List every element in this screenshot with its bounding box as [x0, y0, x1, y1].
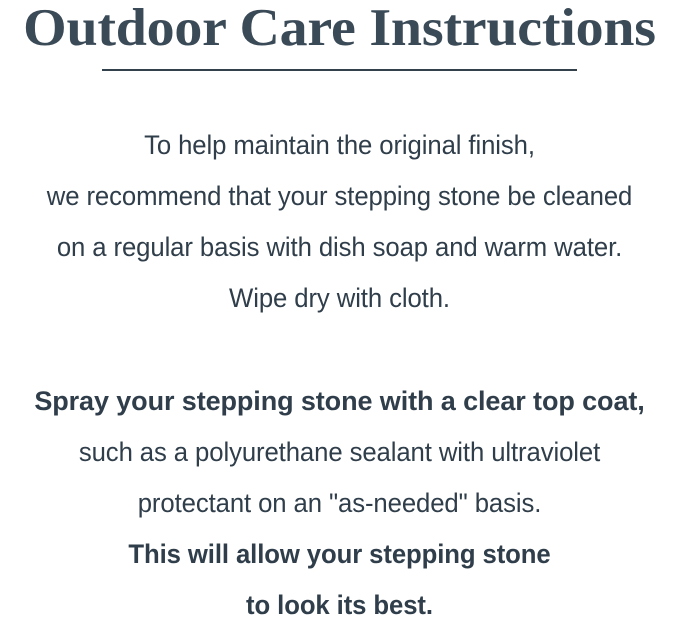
- text-line: This will allow your stepping stone: [10, 529, 669, 580]
- body-copy: To help maintain the original finish, we…: [0, 120, 679, 631]
- text-line: Spray your stepping stone with a clear t…: [0, 376, 679, 427]
- title-block: Outdoor Care Instructions: [0, 0, 679, 56]
- title-divider: [0, 69, 679, 75]
- text-line: protectant on an "as-needed" basis.: [10, 478, 669, 529]
- text-line: we recommend that your stepping stone be…: [10, 171, 669, 222]
- text-line: To help maintain the original finish,: [10, 120, 669, 171]
- text-line: Wipe dry with cloth.: [10, 273, 669, 324]
- page-title: Outdoor Care Instructions: [0, 0, 679, 56]
- text-line: on a regular basis with dish soap and wa…: [10, 222, 669, 273]
- paragraph-cleaning-instructions: To help maintain the original finish, we…: [0, 120, 679, 324]
- text-line: such as a polyurethane sealant with ultr…: [10, 427, 669, 478]
- divider-rule: [102, 69, 577, 71]
- text-line: to look its best.: [10, 580, 669, 631]
- paragraph-spacer: [0, 324, 679, 376]
- care-instructions-card: Outdoor Care Instructions To help mainta…: [0, 0, 679, 613]
- paragraph-sealant-instructions: Spray your stepping stone with a clear t…: [0, 376, 679, 631]
